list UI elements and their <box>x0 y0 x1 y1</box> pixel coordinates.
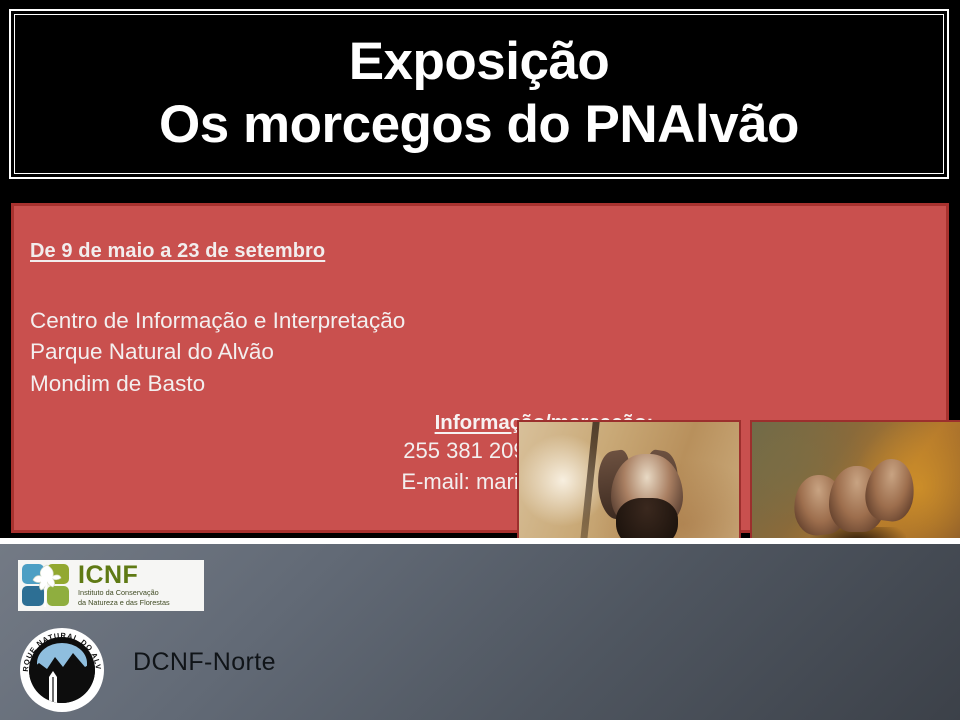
parque-natural-alvao-logo: PARQUE NATURAL DO ALVÃO <box>20 628 104 712</box>
venue-address: Centro de Informação e Interpretação Par… <box>30 305 500 399</box>
poster-root: Exposição Os morcegos do PNAlvão De 9 de… <box>0 0 960 720</box>
icnf-wordmark: ICNF Instituto da Conservação da Naturez… <box>78 563 170 608</box>
pna-arc-text: PARQUE NATURAL DO ALVÃO <box>20 628 104 712</box>
icnf-logo: ICNF Instituto da Conservação da Naturez… <box>18 560 204 611</box>
info-panel: De 9 de maio a 23 de setembro Centro de … <box>11 203 949 533</box>
venue-line: Mondim de Basto <box>30 368 500 399</box>
pna-arc-label: PARQUE NATURAL DO ALVÃO <box>20 628 103 672</box>
poster-title: Exposição Os morcegos do PNAlvão <box>20 16 938 172</box>
venue-line: Parque Natural do Alvão <box>30 336 500 367</box>
icnf-subtitle-line-2: da Natureza e das Florestas <box>78 598 170 608</box>
icnf-subtitle-line-1: Instituto da Conservação <box>78 588 170 598</box>
title-line-1: Exposição <box>349 31 610 94</box>
icnf-leaf-squares-icon <box>21 563 73 608</box>
venue-line: Centro de Informação e Interpretação <box>30 305 500 336</box>
department-label: DCNF-Norte <box>133 648 276 677</box>
oak-leaf-icon <box>27 563 67 608</box>
title-line-2: Os morcegos do PNAlvão <box>159 94 799 157</box>
icnf-acronym: ICNF <box>78 563 170 588</box>
info-text-column: De 9 de maio a 23 de setembro Centro de … <box>30 240 500 399</box>
title-block: Exposição Os morcegos do PNAlvão <box>0 0 960 190</box>
date-range: De 9 de maio a 23 de setembro <box>30 240 500 263</box>
bat-in-cluster <box>863 456 918 523</box>
